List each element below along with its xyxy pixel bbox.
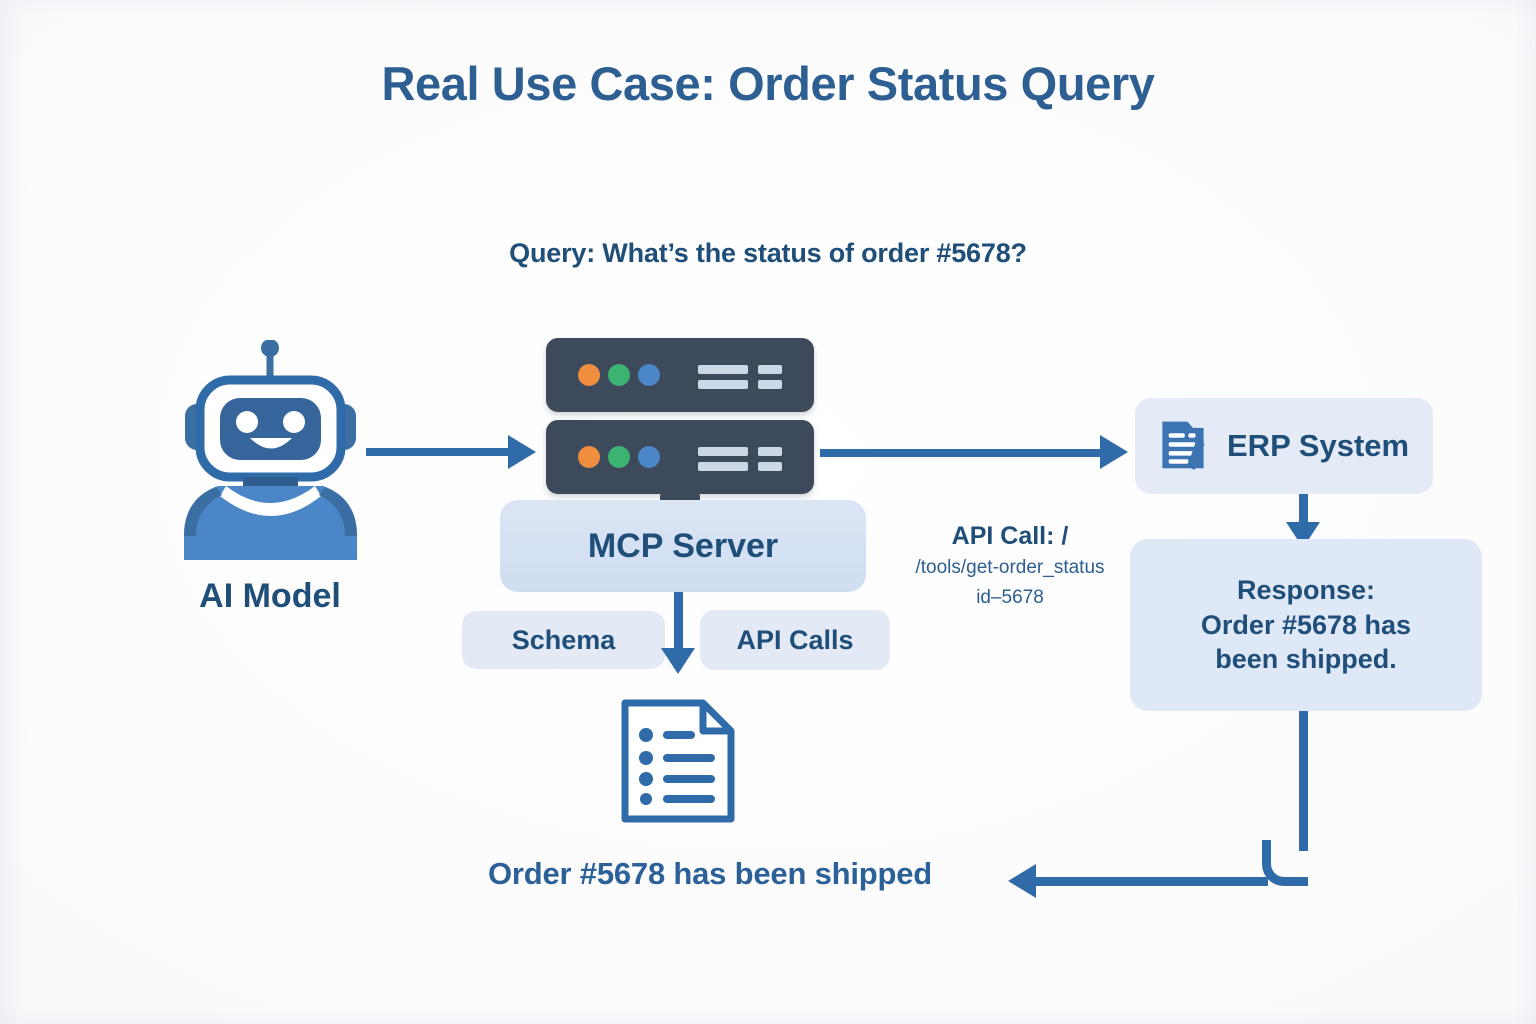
orange-led-icon <box>578 364 600 386</box>
erp-system-node[interactable]: ERP System <box>1135 398 1433 494</box>
arrow-head-down-icon <box>661 648 695 674</box>
server-bar <box>758 447 782 456</box>
api-call-line-1: API Call: / <box>890 522 1130 551</box>
query-text: Query: What’s the status of order #5678? <box>0 238 1536 269</box>
mcp-server-node[interactable]: MCP Server <box>500 500 866 592</box>
api-call-line-2: /tools/get-order_status <box>890 557 1130 579</box>
server-bar <box>698 447 748 456</box>
diagram-canvas: Real Use Case: Order Status Query Query:… <box>0 0 1536 1024</box>
orange-led-icon <box>578 446 600 468</box>
response-line-1: Response: <box>1237 573 1375 608</box>
server-bar <box>698 462 748 471</box>
api-call-caption: API Call: / /tools/get-order_status id–5… <box>890 522 1130 609</box>
server-bar <box>758 462 782 471</box>
server-bar <box>758 380 782 389</box>
api-calls-label: API Calls <box>736 625 853 656</box>
ai-model-label: AI Model <box>120 577 420 616</box>
blue-led-icon <box>638 446 660 468</box>
document-clipboard-icon <box>1157 416 1209 477</box>
server-bar <box>758 365 782 374</box>
return-path-corner <box>1262 840 1308 886</box>
server-rack-icon <box>546 338 814 503</box>
server-rack-unit-top <box>546 338 814 412</box>
schema-node[interactable]: Schema <box>462 611 665 669</box>
arrow-line <box>674 592 683 654</box>
response-node[interactable]: Response: Order #5678 has been shipped. <box>1130 539 1482 711</box>
response-line-3: been shipped. <box>1215 642 1397 677</box>
mcp-server-label: MCP Server <box>588 527 778 566</box>
green-led-icon <box>608 446 630 468</box>
api-calls-node[interactable]: API Calls <box>700 610 890 670</box>
bottom-result-text: Order #5678 has been shipped <box>420 856 1000 892</box>
arrow-head-right-icon <box>1100 435 1128 469</box>
arrow-line <box>366 448 511 456</box>
arrow-head-right-icon <box>508 435 536 469</box>
server-bar <box>698 365 748 374</box>
server-bar <box>698 380 748 389</box>
erp-system-label: ERP System <box>1227 428 1409 464</box>
server-rack-unit-bottom <box>546 420 814 494</box>
arrow-line <box>820 449 1107 457</box>
green-led-icon <box>608 364 630 386</box>
robot-icon <box>168 340 373 560</box>
return-path-vertical <box>1299 711 1308 851</box>
api-call-line-3: id–5678 <box>890 587 1130 609</box>
document-list-icon <box>613 697 743 825</box>
blue-led-icon <box>638 364 660 386</box>
schema-label: Schema <box>512 625 616 656</box>
response-line-2: Order #5678 has <box>1201 608 1411 643</box>
page-title: Real Use Case: Order Status Query <box>0 56 1536 111</box>
return-path-horizontal <box>1036 877 1268 886</box>
arrow-head-left-icon <box>1008 864 1036 898</box>
